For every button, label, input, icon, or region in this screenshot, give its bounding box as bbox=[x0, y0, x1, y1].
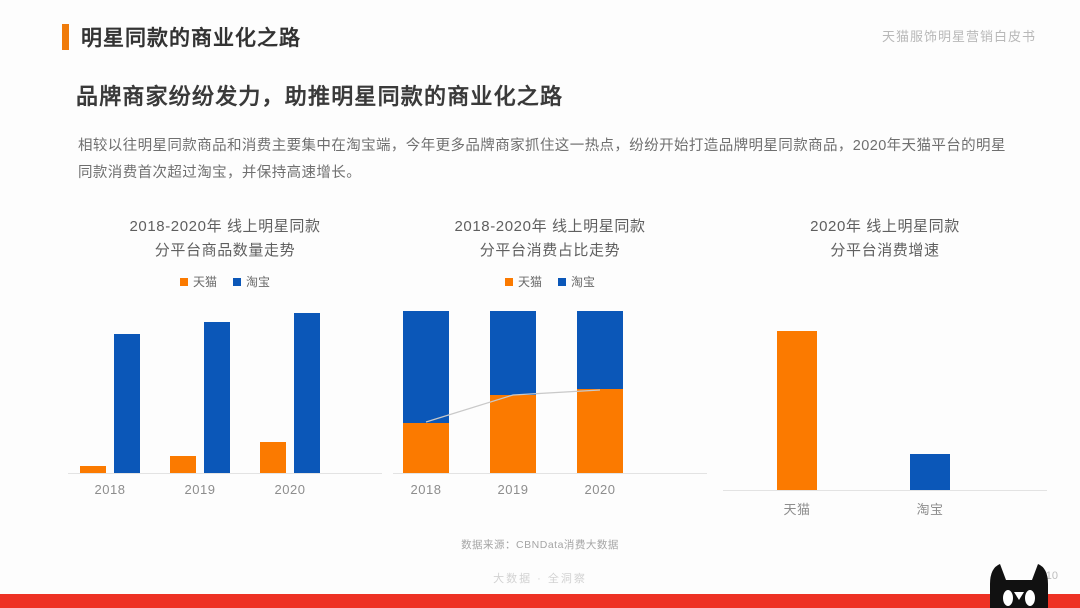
chart1-legend-tmall: 天猫 bbox=[180, 273, 217, 290]
slide-canvas: 明星同款的商业化之路 天猫服饰明星营销白皮书 品牌商家纷纷发力，助推明星同款的商… bbox=[0, 0, 1080, 608]
chart1-bar-taobao-2018 bbox=[114, 334, 140, 473]
tmall-cat-logo-icon bbox=[986, 562, 1052, 608]
charts-container: 2018-2020年 线上明星同款 分平台商品数量走势 天猫 淘宝 bbox=[0, 215, 1080, 515]
chart2-title-line2: 分平台消费占比走势 bbox=[385, 239, 715, 263]
data-source-note: 数据来源：CBNData消费大数据 bbox=[0, 537, 1080, 552]
chart2-legend: 天猫 淘宝 bbox=[385, 273, 715, 290]
chart2-title: 2018-2020年 线上明星同款 分平台消费占比走势 bbox=[385, 215, 715, 263]
accent-bar-icon bbox=[62, 24, 69, 50]
chart1-bar-tmall-2020 bbox=[260, 442, 286, 473]
chart1-bar-taobao-2019 bbox=[204, 322, 230, 473]
chart2-legend-taobao: 淘宝 bbox=[558, 273, 595, 290]
chart1-bar-tmall-2019 bbox=[170, 456, 196, 473]
slide-header: 明星同款的商业化之路 bbox=[62, 22, 301, 52]
chart1-legend-taobao-label: 淘宝 bbox=[246, 273, 270, 290]
chart3-xlabel-tmall: 天猫 bbox=[783, 499, 810, 518]
chart2-x-axis: 2018 2019 2020 bbox=[385, 478, 715, 502]
chart2-trend-line bbox=[385, 304, 715, 474]
chart1-title-line1: 2018-2020年 线上明星同款 bbox=[129, 218, 320, 235]
chart1-x-axis: 2018 2019 2020 bbox=[60, 478, 390, 502]
chart3-title-line2: 分平台消费增速 bbox=[715, 239, 1055, 263]
chart3-xlabel-taobao: 淘宝 bbox=[916, 499, 943, 518]
chart1-legend: 天猫 淘宝 bbox=[60, 273, 390, 290]
chart1-legend-tmall-label: 天猫 bbox=[193, 273, 217, 290]
chart1-xlabel-2020: 2020 bbox=[275, 482, 306, 497]
footer-slogan: 大数据 · 全洞察 bbox=[0, 570, 1080, 586]
chart1-plot bbox=[60, 304, 390, 474]
chart2-title-line1: 2018-2020年 线上明星同款 bbox=[454, 218, 645, 235]
chart1-legend-taobao: 淘宝 bbox=[233, 273, 270, 290]
chart2-xlabel-2018: 2018 bbox=[411, 482, 442, 497]
chart1-bar-taobao-2020 bbox=[294, 313, 320, 473]
chart2-legend-taobao-label: 淘宝 bbox=[571, 273, 595, 290]
chart1-bar-tmall-2018 bbox=[80, 466, 106, 473]
tmall-swatch-icon bbox=[180, 278, 188, 286]
chart-consumption-growth: 2020年 线上明星同款 分平台消费增速 天猫 淘宝 bbox=[715, 215, 1055, 519]
chart3-title: 2020年 线上明星同款 分平台消费增速 bbox=[715, 215, 1055, 263]
tmall-swatch-icon bbox=[505, 278, 513, 286]
page-title: 明星同款的商业化之路 bbox=[81, 22, 301, 52]
chart3-title-line1: 2020年 线上明星同款 bbox=[810, 218, 960, 235]
report-name-label: 天猫服饰明星营销白皮书 bbox=[882, 26, 1036, 45]
chart1-xlabel-2019: 2019 bbox=[185, 482, 216, 497]
chart1-title: 2018-2020年 线上明星同款 分平台商品数量走势 bbox=[60, 215, 390, 263]
chart1-axis-line bbox=[68, 473, 382, 474]
footer-red-bar bbox=[0, 594, 1080, 608]
taobao-swatch-icon bbox=[558, 278, 566, 286]
taobao-swatch-icon bbox=[233, 278, 241, 286]
chart2-xlabel-2019: 2019 bbox=[498, 482, 529, 497]
chart3-axis-line bbox=[723, 490, 1047, 491]
chart2-legend-tmall: 天猫 bbox=[505, 273, 542, 290]
chart3-x-axis: 天猫 淘宝 bbox=[715, 495, 1055, 519]
chart2-xlabel-2020: 2020 bbox=[585, 482, 616, 497]
section-subtitle: 品牌商家纷纷发力，助推明星同款的商业化之路 bbox=[76, 79, 563, 111]
chart1-xlabel-2018: 2018 bbox=[95, 482, 126, 497]
body-paragraph: 相较以往明星同款商品和消费主要集中在淘宝端，今年更多品牌商家抓住这一热点，纷纷开… bbox=[78, 133, 1008, 187]
chart3-bar-tmall bbox=[777, 331, 817, 490]
chart1-title-line2: 分平台商品数量走势 bbox=[60, 239, 390, 263]
chart2-plot bbox=[385, 304, 715, 474]
chart-product-count: 2018-2020年 线上明星同款 分平台商品数量走势 天猫 淘宝 bbox=[60, 215, 390, 502]
chart3-plot bbox=[715, 321, 1055, 491]
chart2-legend-tmall-label: 天猫 bbox=[518, 273, 542, 290]
chart-consumption-share: 2018-2020年 线上明星同款 分平台消费占比走势 天猫 淘宝 bbox=[385, 215, 715, 502]
chart3-bar-taobao bbox=[910, 454, 950, 490]
